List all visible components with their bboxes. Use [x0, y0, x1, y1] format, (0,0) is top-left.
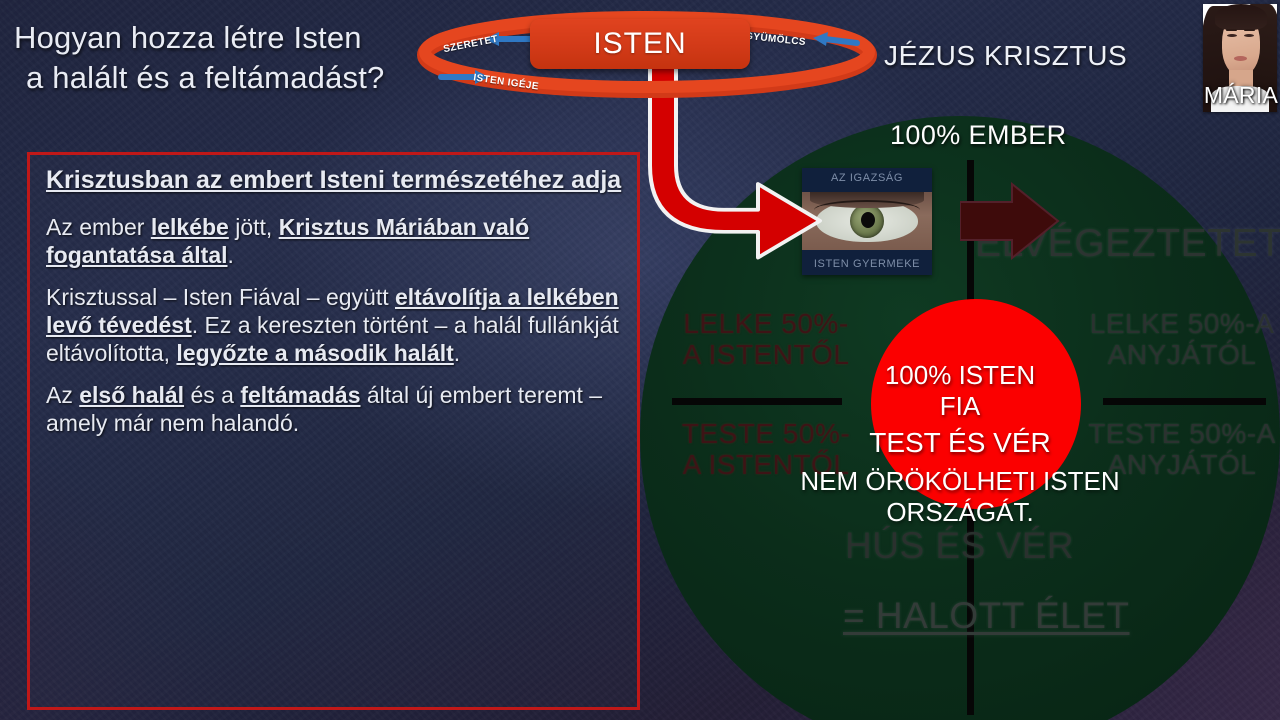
- textbox-paragraph-2: Krisztussal – Isten Fiával – együtt eltá…: [46, 283, 623, 367]
- jezus-krisztus-heading: JÉZUS KRISZTUS: [884, 40, 1127, 72]
- center-line-4: NEM ÖRÖKÖLHETI ISTEN: [730, 466, 1190, 497]
- maria-hair-top: [1215, 4, 1267, 30]
- center-text-stack: 100% ISTEN FIA TEST ÉS VÉR NEM ÖRÖKÖLHET…: [730, 360, 1190, 528]
- maria-eye-right: [1244, 34, 1254, 37]
- isten-center-box: ISTEN: [530, 19, 750, 69]
- textbox-heading: Krisztusban az embert Isteni természetéh…: [46, 165, 623, 196]
- isten-cycle-diagram: SZERETET ISTEN IGÉJE GYÜMÖLCS ISTEN: [415, 5, 880, 105]
- title-line-2: a halált és a feltámadást?: [14, 58, 484, 98]
- center-line-2: FIA: [730, 391, 1190, 422]
- label-hus-es-ver: HÚS ÉS VÉR: [845, 525, 1074, 567]
- title-line-1: Hogyan hozza létre Isten: [14, 20, 362, 55]
- maria-eye-left: [1227, 34, 1237, 37]
- slide-canvas: Hogyan hozza létre Isten a halált és a f…: [0, 0, 1280, 720]
- center-line-1: 100% ISTEN: [730, 360, 1190, 391]
- page-title: Hogyan hozza létre Isten a halált és a f…: [14, 18, 484, 97]
- center-line-3: TEST ÉS VÉR: [730, 426, 1190, 460]
- isten-center-label: ISTEN: [593, 27, 686, 61]
- label-halott-elet: = HALOTT ÉLET: [843, 595, 1130, 637]
- maria-brow-right: [1244, 29, 1255, 31]
- maria-lips: [1234, 56, 1247, 61]
- explanation-textbox: Krisztusban az embert Isteni természetéh…: [27, 152, 640, 710]
- center-line-5: ORSZÁGÁT.: [730, 497, 1190, 528]
- textbox-paragraph-1: Az ember lelkébe jött, Krisztus Máriában…: [46, 213, 623, 269]
- textbox-paragraph-3: Az első halál és a feltámadás által új e…: [46, 381, 623, 437]
- maria-label: MÁRIA: [1201, 82, 1280, 109]
- label-100-percent-ember: 100% EMBER: [890, 120, 1067, 151]
- maria-brow-left: [1226, 29, 1237, 31]
- dark-red-arrow-icon: [960, 180, 1060, 262]
